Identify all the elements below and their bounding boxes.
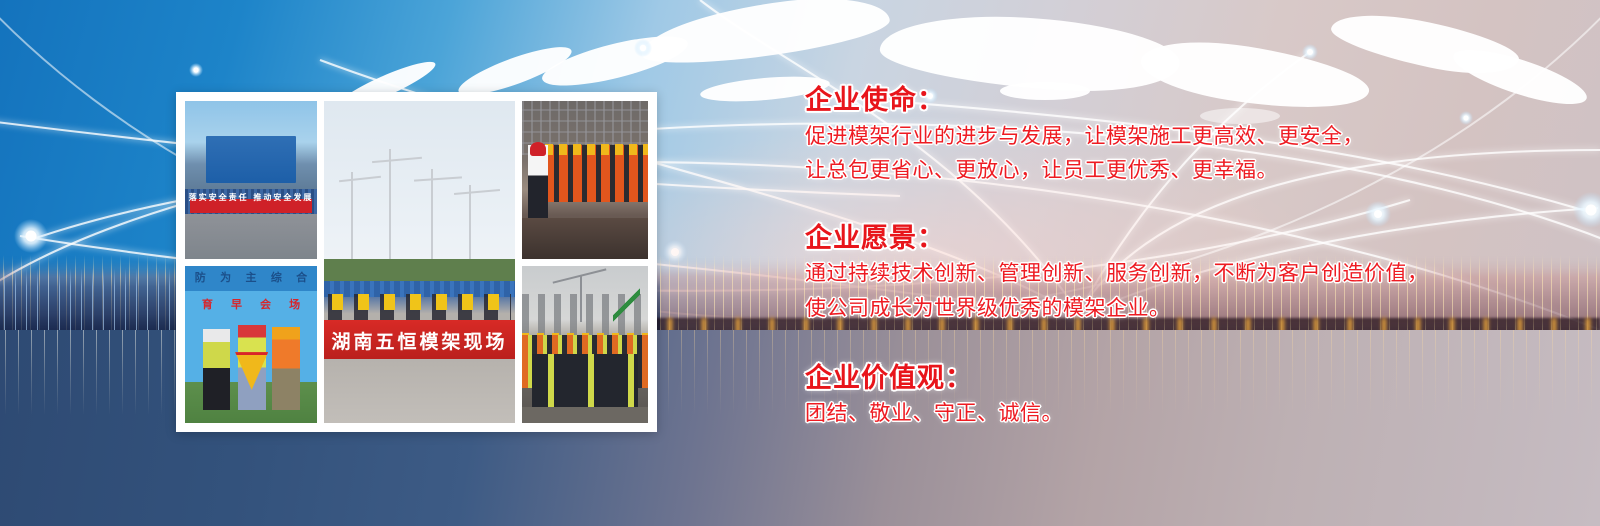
photo-flag-award-image: 防为主综合 育早会场 bbox=[185, 266, 317, 424]
section-vision: 企业愿景： 通过持续技术创新、管理创新、服务创新，不断为客户创造价值， 使公司成… bbox=[805, 222, 1565, 326]
section-mission-line-1: 促进模架行业的进步与发展，让模架施工更高效、更安全， bbox=[805, 119, 1565, 154]
section-vision-line-2: 使公司成长为世界级优秀的模架企业。 bbox=[805, 291, 1565, 326]
section-values: 企业价值观： 团结、敬业、守正、诚信。 bbox=[805, 362, 1565, 431]
section-mission: 企业使命： 促进模架行业的进步与发展，让模架施工更高效、更安全， 让总包更省心、… bbox=[805, 84, 1565, 188]
photo-flag-award-top-caption: 防为主综合 bbox=[188, 269, 315, 286]
photo-collage[interactable]: 落实安全责任 推动安全发展 湖南五恒模架现场 bbox=[176, 92, 657, 432]
photo-group-banner[interactable]: 湖南五恒模架现场 bbox=[324, 101, 515, 423]
photo-morning-meeting[interactable] bbox=[522, 266, 648, 424]
section-values-line-1: 团结、敬业、守正、诚信。 bbox=[805, 396, 1565, 431]
corporate-culture-banner: 落实安全责任 推动安全发展 湖南五恒模架现场 bbox=[0, 0, 1600, 526]
photo-morning-meeting-image bbox=[522, 266, 648, 424]
section-spacer bbox=[805, 188, 1565, 222]
photo-safety-assembly[interactable]: 落实安全责任 推动安全发展 bbox=[185, 101, 317, 259]
photo-flag-award[interactable]: 防为主综合 育早会场 bbox=[185, 266, 317, 424]
photo-safety-assembly-image bbox=[185, 101, 317, 259]
section-spacer bbox=[805, 326, 1565, 362]
section-mission-heading: 企业使命： bbox=[805, 84, 1565, 119]
section-vision-heading: 企业愿景： bbox=[805, 222, 1565, 257]
culture-text-column: 企业使命： 促进模架行业的进步与发展，让模架施工更高效、更安全， 让总包更省心、… bbox=[805, 84, 1565, 431]
section-vision-line-1: 通过持续技术创新、管理创新、服务创新，不断为客户创造价值， bbox=[805, 256, 1565, 291]
photo-safety-assembly-caption: 落实安全责任 推动安全发展 bbox=[185, 192, 317, 203]
photo-site-briefing[interactable] bbox=[522, 101, 648, 259]
section-values-heading: 企业价值观： bbox=[805, 362, 1565, 397]
photo-flag-award-main-caption: 育早会场 bbox=[193, 294, 309, 314]
photo-group-banner-caption: 湖南五恒模架现场 bbox=[331, 327, 507, 354]
photo-group-banner-text-strip: 湖南五恒模架现场 bbox=[324, 320, 515, 362]
photo-site-briefing-image bbox=[522, 101, 648, 259]
section-mission-line-2: 让总包更省心、更放心，让员工更优秀、更幸福。 bbox=[805, 153, 1565, 188]
photo-group-banner-image: 湖南五恒模架现场 bbox=[324, 101, 515, 423]
